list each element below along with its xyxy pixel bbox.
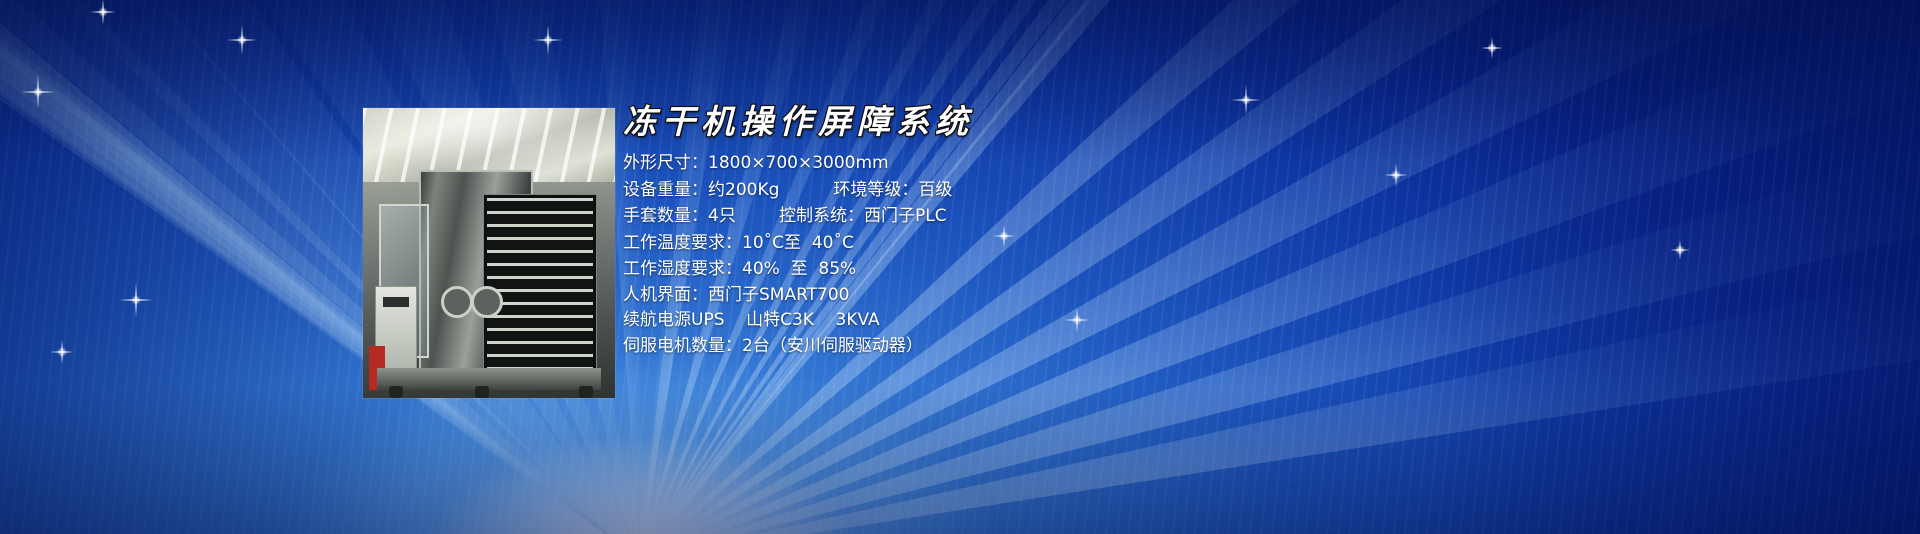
spec-line: 人机界面：西门子SMART700: [623, 283, 1263, 308]
spec-line: 工作温度要求：10˚C至 40˚C: [623, 230, 1263, 256]
spec-line: 手套数量：4只 控制系统：西门子PLC: [623, 203, 1263, 229]
product-photo: [363, 108, 615, 398]
banner-content: 冻干机操作屏障系统 外形尺寸：1800×700×3000mm设备重量：约200K…: [623, 104, 1263, 359]
spec-line: 外形尺寸：1800×700×3000mm: [623, 150, 1263, 176]
promo-banner: 冻干机操作屏障系统 外形尺寸：1800×700×3000mm设备重量：约200K…: [0, 0, 1920, 534]
photo-highlight: [363, 108, 615, 398]
spec-line: 续航电源UPS 山特C3K 3KVA: [623, 308, 1263, 333]
spec-line: 设备重量：约200Kg 环境等级：百级: [623, 177, 1263, 203]
spec-line: 伺服电机数量：2台（安川伺服驱动器）: [623, 334, 1263, 359]
specification-list: 外形尺寸：1800×700×3000mm设备重量：约200Kg 环境等级：百级手…: [623, 150, 1263, 359]
spec-line: 工作湿度要求：40% 至 85%: [623, 256, 1263, 282]
page-title: 冻干机操作屏障系统: [623, 104, 1263, 140]
